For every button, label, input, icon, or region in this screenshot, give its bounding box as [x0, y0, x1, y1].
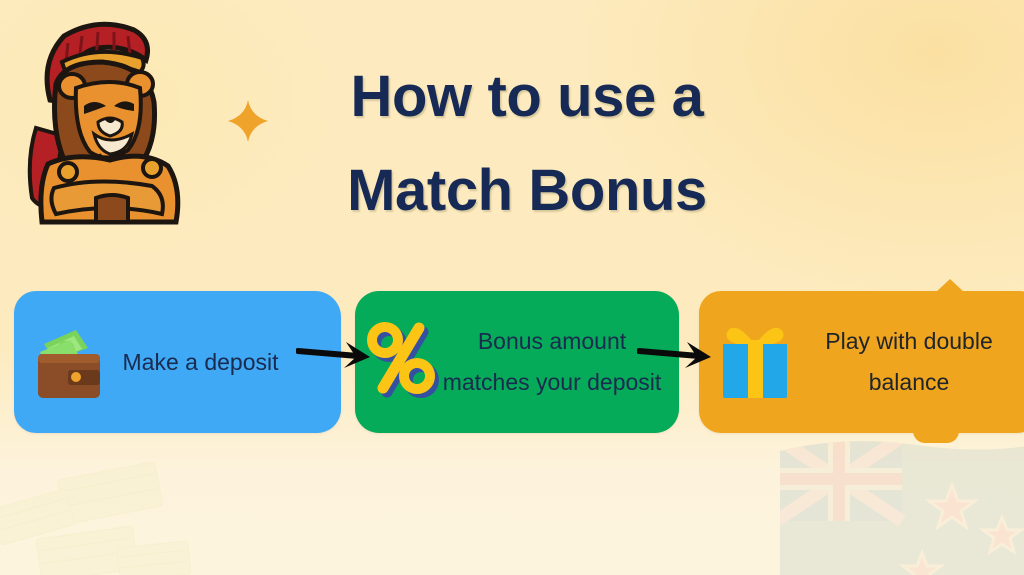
step-bonus-matches-deposit[interactable]: Bonus amount matches your deposit — [355, 291, 679, 433]
arrow-step1-to-step2 — [296, 338, 380, 372]
wallet-with-cash-icon — [32, 316, 114, 408]
new-zealand-flag-watermark-icon — [776, 429, 1024, 575]
page-title: How to use a Match Bonus — [272, 50, 782, 238]
cash-stack-watermark-icon — [0, 440, 300, 575]
step-label: Bonus amount matches your deposit — [441, 321, 669, 403]
gift-box-icon — [715, 316, 795, 408]
step-make-a-deposit[interactable]: Make a deposit — [14, 291, 341, 433]
step-play-with-double-balance[interactable]: Play with double balance — [699, 291, 1024, 433]
steps-row: Make a deposit Bonus amount matches your… — [0, 291, 1024, 433]
page-title-line-1: How to use a — [272, 50, 782, 144]
spartan-lion-mascot-icon — [6, 10, 202, 236]
arrow-step2-to-step3 — [637, 338, 721, 372]
four-point-sparkle-icon — [228, 100, 268, 142]
step-label: Play with double balance — [795, 321, 1024, 403]
decorative-notch-top — [935, 279, 965, 293]
infographic-canvas: How to use a Match Bonus — [0, 0, 1024, 575]
decorative-notch-bottom — [913, 431, 959, 443]
page-title-line-2: Match Bonus — [272, 144, 782, 238]
